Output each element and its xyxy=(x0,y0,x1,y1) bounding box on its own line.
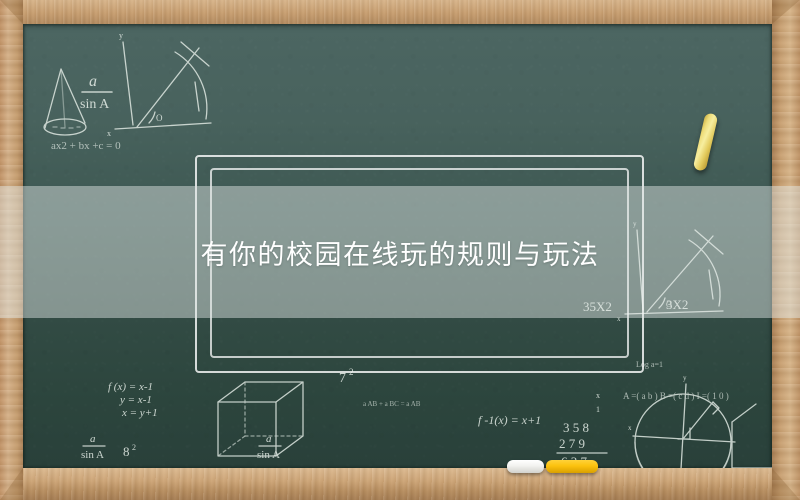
cube-diagram-left xyxy=(218,382,303,456)
svg-text:sin A: sin A xyxy=(80,97,110,112)
svg-text:x: x xyxy=(596,391,600,400)
title-overlay-band: 有你的校园在线玩的规则与玩法 xyxy=(0,186,800,318)
frame-miter-top-right xyxy=(772,0,800,24)
frame-miter-bottom-right xyxy=(772,468,800,500)
svg-text:x = y+1: x = y+1 xyxy=(121,407,158,419)
formula-inverse-function: f -1(x) = x+1 xyxy=(478,413,541,427)
svg-text:3 5 8: 3 5 8 xyxy=(563,420,589,435)
svg-text:sin A: sin A xyxy=(81,449,104,461)
frame-miter-top-left xyxy=(0,0,23,24)
svg-text:a: a xyxy=(90,433,96,445)
formula-7-squared: 7 xyxy=(339,371,346,386)
formula-8-exponent: 2 xyxy=(132,443,136,452)
svg-text:x: x xyxy=(628,424,632,432)
angle-diagram-left: y x O xyxy=(107,31,211,138)
svg-text:sin A: sin A xyxy=(257,449,280,461)
formula-a-over-sinA-center: a sin A xyxy=(257,433,281,461)
frame-top-rail xyxy=(0,0,800,24)
svg-text:a: a xyxy=(266,433,272,445)
yellow-chalk-icon xyxy=(546,460,598,473)
screenshot-root: a sin A ax2 + bx +c = 0 y x O xyxy=(0,0,800,500)
formula-a-over-sinA-top: a sin A xyxy=(80,73,112,112)
svg-text:f (x) = x-1: f (x) = x-1 xyxy=(108,381,153,393)
long-division-block: 3 5 8 2 7 9 6 3 7 x 1 xyxy=(557,391,607,468)
formula-a-over-sinA-bottom-left: a sin A xyxy=(81,433,105,461)
cube-diagram-right xyxy=(732,404,772,468)
svg-text:y = x-1: y = x-1 xyxy=(119,394,152,406)
svg-text:x: x xyxy=(107,129,111,138)
formula-vector-sum: a AB + a BC = a AB xyxy=(363,400,421,408)
formula-function-group: f (x) = x-1 y = x-1 x = y+1 xyxy=(108,381,158,419)
svg-text:1: 1 xyxy=(596,405,600,414)
svg-text:2 7 9: 2 7 9 xyxy=(559,436,585,451)
svg-text:a: a xyxy=(89,73,97,90)
chalk-stick-icon xyxy=(693,112,719,171)
svg-text:y: y xyxy=(683,374,687,382)
cone-diagram xyxy=(44,69,86,135)
page-title: 有你的校园在线玩的规则与玩法 xyxy=(201,233,600,272)
frame-miter-bottom-left xyxy=(0,468,23,500)
circle-diagram: x y xyxy=(628,374,735,468)
svg-text:O: O xyxy=(156,113,163,123)
white-chalk-icon xyxy=(507,460,544,473)
formula-quadratic: ax2 + bx +c = 0 xyxy=(51,140,121,152)
svg-text:y: y xyxy=(119,31,123,40)
formula-8-squared: 8 xyxy=(123,444,130,459)
frame-bottom-rail xyxy=(0,467,800,500)
formula-matrices: A =( a b ) B =( c d ) I =( 1 0 ) xyxy=(623,391,729,401)
